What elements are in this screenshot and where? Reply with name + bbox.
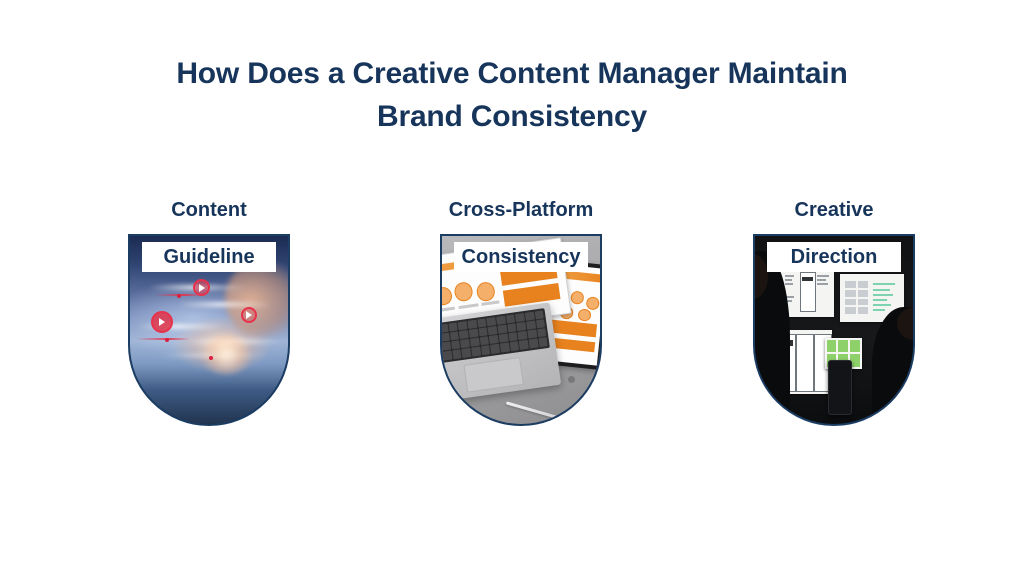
card-heading-2: Cross-Platform: [416, 196, 626, 224]
brand-icon: [585, 297, 599, 311]
card-image-frame-3: Direction: [753, 234, 915, 426]
page-title-line-2: Brand Consistency: [0, 95, 1024, 138]
laptop-trackpad: [464, 357, 524, 393]
card-heading-1: Content: [104, 196, 314, 224]
brand-icon: [570, 291, 584, 305]
laptop-base: [442, 303, 561, 403]
card-heading-3: Creative: [729, 196, 939, 224]
sketch-line: [785, 283, 794, 285]
brand-icon: [577, 309, 591, 323]
pen-icon: [506, 401, 568, 421]
play-icon: [151, 311, 173, 333]
infographic-canvas: How Does a Creative Content Manager Main…: [0, 0, 1024, 576]
card-label-1: Guideline: [163, 246, 254, 268]
cards-row: Content: [0, 196, 1024, 446]
sketch-line: [785, 275, 795, 277]
photo-accent-dot: [165, 338, 169, 342]
sketch-line: [817, 279, 827, 281]
page-title: How Does a Creative Content Manager Main…: [0, 52, 1024, 138]
layout-grid: [845, 281, 868, 313]
laptop-keyboard: [442, 308, 550, 364]
sketch-line: [785, 279, 793, 281]
card-creative-direction[interactable]: Creative: [729, 196, 939, 446]
card-label-3: Direction: [791, 246, 878, 268]
hand: [755, 377, 761, 397]
card-label-band-3: Direction: [767, 242, 901, 272]
card-label-band-2: Consistency: [454, 242, 588, 272]
card-image-frame-2: Consistency: [440, 234, 602, 426]
page-title-line-1: How Does a Creative Content Manager Main…: [0, 52, 1024, 95]
brand-icon: [442, 286, 453, 307]
brand-caption: [442, 307, 454, 313]
play-icon: [241, 307, 257, 323]
card-label-2: Consistency: [462, 246, 581, 268]
brand-icon: [476, 281, 496, 302]
card-cross-platform-consistency[interactable]: Cross-Platform: [416, 196, 626, 446]
photo-light-streak: [177, 302, 272, 307]
smartphone: [828, 360, 852, 415]
brand-block: [549, 320, 597, 337]
photo-accent-dot: [177, 294, 181, 298]
desk-detail: [568, 376, 575, 383]
person-right: [872, 307, 913, 424]
brand-block: [503, 283, 560, 307]
photo-light-glow: [200, 334, 254, 375]
card-content-guideline[interactable]: Content: [104, 196, 314, 446]
person-head: [897, 307, 913, 340]
hand: [909, 398, 913, 412]
play-icon: [193, 279, 210, 296]
card-image-frame-1: Guideline: [128, 234, 290, 426]
wireframe-mockup: [796, 334, 814, 392]
sketch-line: [817, 283, 828, 285]
brand-caption: [481, 300, 499, 305]
photo-accent-line: [136, 338, 190, 340]
brand-icon: [454, 281, 474, 302]
sketch-line: [817, 275, 829, 277]
photo-hand-blur: [225, 262, 288, 337]
brand-caption: [458, 303, 479, 309]
wireframe-mockup: [800, 272, 816, 312]
card-label-band-1: Guideline: [142, 242, 276, 272]
